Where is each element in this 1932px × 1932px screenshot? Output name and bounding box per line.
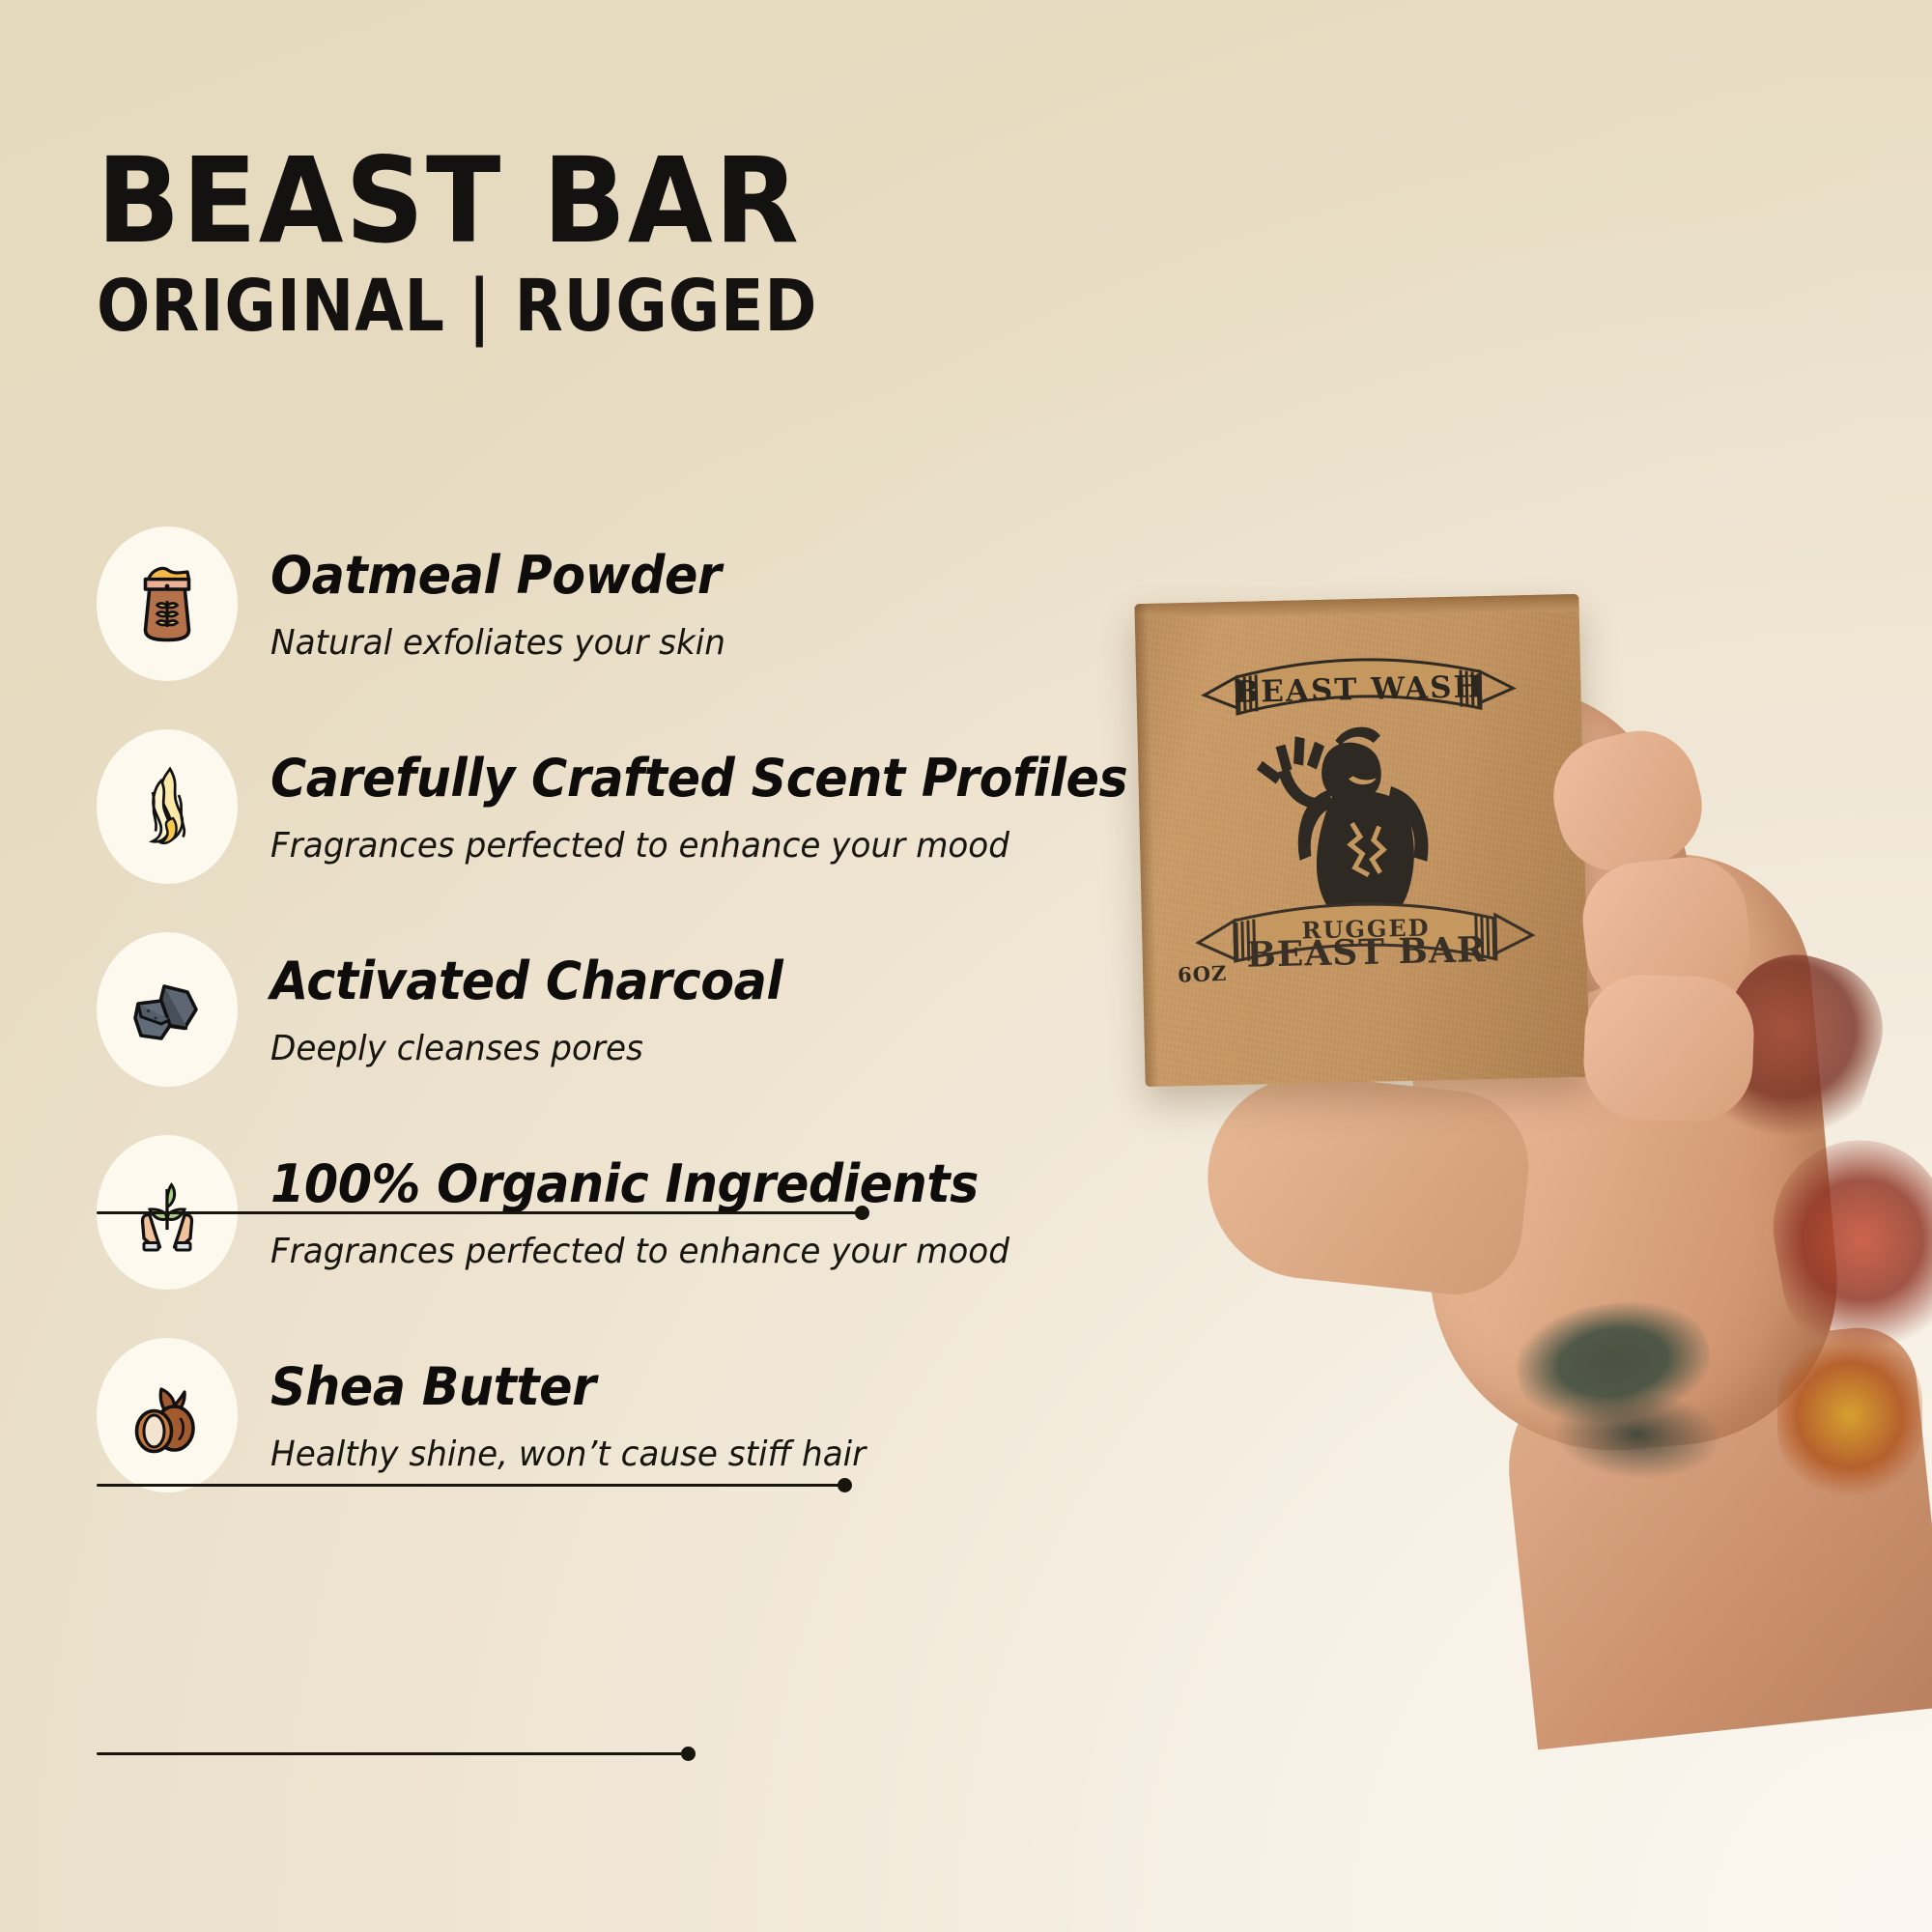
section-divider-1 bbox=[97, 1206, 869, 1219]
divider-line bbox=[97, 1752, 683, 1755]
feature-text: Oatmeal Powder Natural exfoliates your s… bbox=[270, 544, 750, 664]
tattoo-hand-lower bbox=[1552, 1385, 1722, 1484]
oatmeal-sack-icon bbox=[121, 557, 213, 650]
feature-name: Carefully Crafted Scent Profiles bbox=[270, 751, 1127, 806]
divider-dot bbox=[855, 1206, 869, 1220]
feature-name: Oatmeal Powder bbox=[270, 548, 722, 603]
feature-icon-badge bbox=[97, 729, 238, 884]
feature-item-oatmeal-powder: Oatmeal Powder Natural exfoliates your s… bbox=[97, 502, 1236, 705]
brand-banner-text: BEAST WASH bbox=[1234, 669, 1484, 710]
header-block: BEAST BAR ORIGINAL | RUGGED bbox=[97, 145, 916, 345]
page-subtitle: ORIGINAL | RUGGED bbox=[97, 270, 817, 345]
shea-nut-icon bbox=[121, 1369, 213, 1462]
roaring-beast-mascot bbox=[1257, 726, 1429, 926]
feature-icon-badge bbox=[97, 526, 238, 681]
feature-icon-badge bbox=[97, 1338, 238, 1492]
divider-dot bbox=[838, 1478, 852, 1492]
feature-item-activated-charcoal: Activated Charcoal Deeply cleanses pores bbox=[97, 908, 1236, 1111]
section-divider-3 bbox=[97, 1747, 696, 1760]
feature-description: Natural exfoliates your skin bbox=[270, 622, 725, 664]
feature-name: Shea Butter bbox=[270, 1359, 860, 1414]
feature-description: Deeply cleanses pores bbox=[270, 1028, 788, 1069]
lower-fingers bbox=[1198, 1065, 1536, 1300]
bottom-banner-line2: BEAST BAR bbox=[1246, 929, 1487, 976]
feature-description: Fragrances perfected to enhance your moo… bbox=[270, 825, 1137, 867]
feature-text: Carefully Crafted Scent Profiles Fragran… bbox=[270, 747, 1182, 867]
feature-name: Activated Charcoal bbox=[270, 953, 782, 1009]
divider-line bbox=[97, 1484, 839, 1487]
feature-text: Activated Charcoal Deeply cleanses pores bbox=[270, 950, 815, 1069]
feature-name: 100% Organic Ingredients bbox=[270, 1156, 1002, 1211]
divider-dot bbox=[681, 1747, 696, 1761]
section-divider-2 bbox=[97, 1478, 852, 1492]
infographic-canvas: BEAST BAR ORIGINAL | RUGGED bbox=[0, 0, 1932, 1932]
divider-line bbox=[97, 1211, 857, 1214]
feature-icon-badge bbox=[97, 932, 238, 1087]
feature-text: Shea Butter Healthy shine, won’t cause s… bbox=[270, 1355, 897, 1475]
feature-item-scent-profiles: Carefully Crafted Scent Profiles Fragran… bbox=[97, 705, 1236, 908]
feature-description: Healthy shine, won’t cause stiff hair bbox=[270, 1434, 866, 1475]
page-title: BEAST BAR bbox=[97, 145, 859, 258]
flame-scent-icon bbox=[121, 760, 213, 853]
feature-description: Fragrances perfected to enhance your moo… bbox=[270, 1231, 1009, 1272]
ring-finger bbox=[1581, 973, 1755, 1123]
tattoo-arm-lower bbox=[1777, 1333, 1922, 1497]
feature-list: Oatmeal Powder Natural exfoliates your s… bbox=[97, 502, 1236, 1517]
charcoal-chunks-icon bbox=[121, 963, 213, 1056]
